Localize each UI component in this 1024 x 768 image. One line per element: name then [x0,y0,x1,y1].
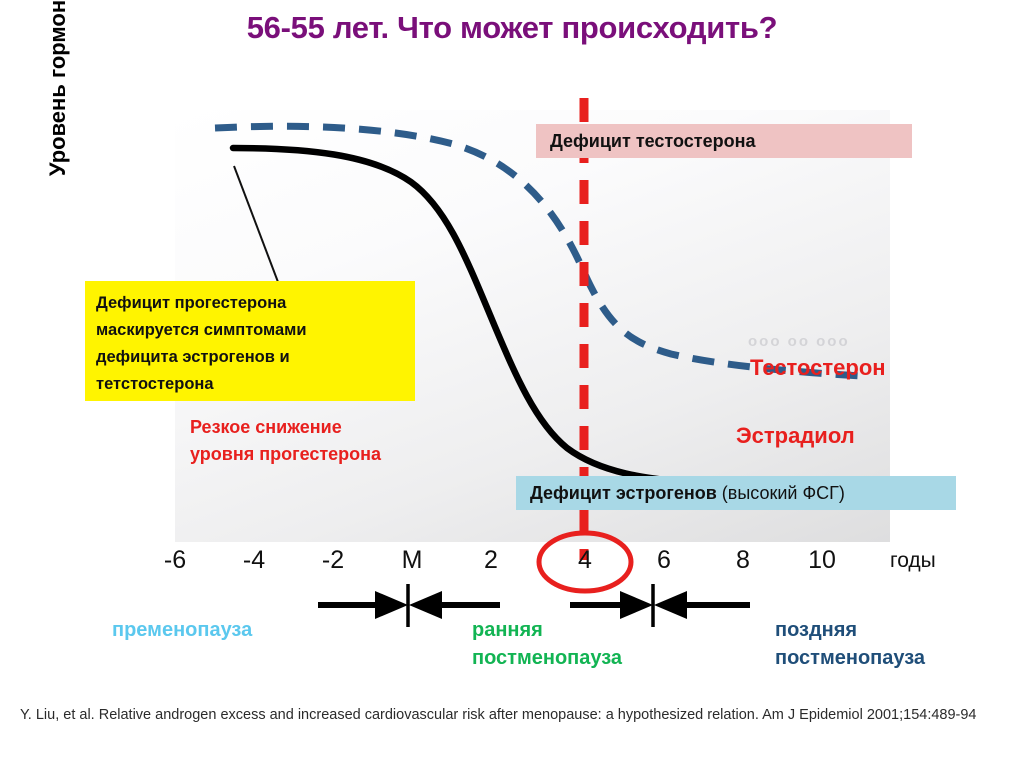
x-axis-unit: годы [890,549,980,573]
x-tick-2: -2 [306,546,360,575]
phase-label-premenopause-line: пременопауза [112,616,252,644]
callout-leader-line [234,166,278,282]
banner-testosterone-deficit: Дефицит тестостерона [536,124,912,158]
x-tick-3: M [385,546,439,575]
watermark-text: ооо оо ооо [748,333,850,350]
curve-label-testosterone: Тестостерон [750,355,886,381]
page-title: 56-55 лет. Что может происходить? [0,10,1024,46]
citation-text: Y. Liu, et al. Relative androgen excess … [20,703,1010,728]
x-axis: -6 -4 -2 M 2 4 6 8 10 годы [0,546,1024,580]
phase-label-early-line-2: постменопауза [472,644,622,672]
banner-estrogen-deficit: Дефицит эстрогенов (высокий ФСГ) [516,476,956,510]
note-progesterone-drop-line-2: уровня прогестерона [190,441,470,468]
note-progesterone-drop-line-1: Резкое снижение [190,414,470,441]
x-tick-8: 10 [795,546,849,575]
phase-label-premenopause: пременопауза [112,616,252,644]
curve-label-estradiol: Эстрадиол [736,423,855,449]
slide-root: 56-55 лет. Что может происходить? Уровен… [0,0,1024,768]
x-tick-7: 8 [716,546,770,575]
y-axis-label: Уровень гормонов крови [36,0,80,219]
phase-label-late-line-1: поздняя [775,616,925,644]
callout-line-4: тетстостерона [96,371,405,398]
banner-estrogen-deficit-bold: Дефицит эстрогенов [530,483,717,504]
callout-line-2: маскируется симптомами [96,317,405,344]
x-tick-6: 6 [637,546,691,575]
phase-label-early-postmenopause: ранняя постменопауза [472,616,622,672]
note-progesterone-drop: Резкое снижение уровня прогестерона [190,414,470,468]
x-tick-0: -6 [148,546,202,575]
phase-label-late-line-2: постменопауза [775,644,925,672]
callout-line-3: дефицита эстрогенов и [96,344,405,371]
x-tick-1: -4 [227,546,281,575]
banner-estrogen-deficit-note: (высокий ФСГ) [722,483,845,504]
phase-label-late-postmenopause: поздняя постменопауза [775,616,925,672]
x-tick-5: 4 [558,546,612,575]
x-tick-4: 2 [464,546,518,575]
phase-label-early-line-1: ранняя [472,616,622,644]
callout-line-1: Дефицит прогестерона [96,290,405,317]
callout-progesterone-deficit: Дефицит прогестерона маскируется симптом… [85,281,415,401]
